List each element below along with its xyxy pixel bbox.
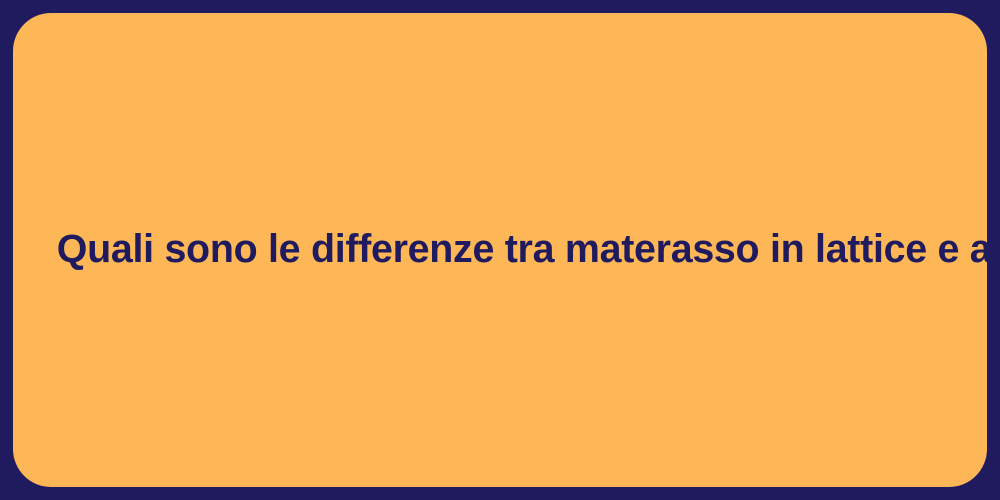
question-heading: Quali sono le differenze tra materasso i… <box>37 226 963 273</box>
page-frame: Quali sono le differenze tra materasso i… <box>0 0 1000 500</box>
question-card: Quali sono le differenze tra materasso i… <box>13 13 987 487</box>
